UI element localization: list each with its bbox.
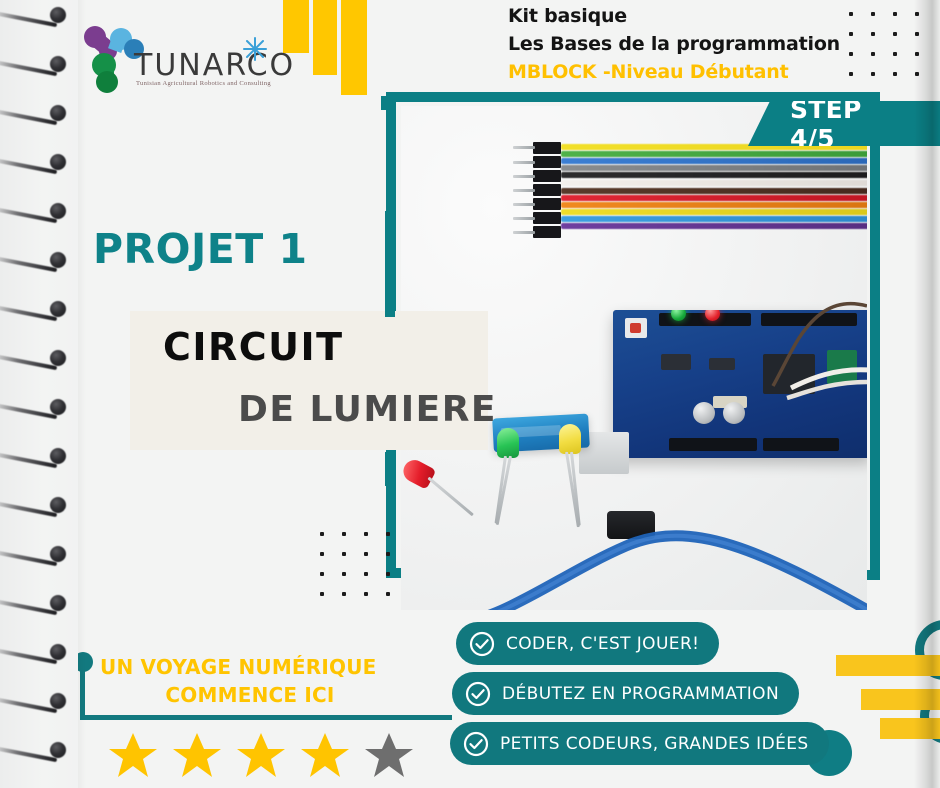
decor-yellow-bar-3 <box>341 0 367 95</box>
spiral-coil <box>0 155 66 164</box>
spiral-binding <box>0 0 78 788</box>
star-icon <box>172 731 222 779</box>
check-circle-icon <box>469 631 495 657</box>
jumper-wires-group <box>513 142 867 238</box>
decor-teal-square <box>381 96 395 110</box>
rating-stars <box>108 731 414 779</box>
step-badge-label: STEP 4/5 <box>790 95 910 153</box>
slogan-line-1: UN VOYAGE NUMÉRIQUE <box>100 655 377 679</box>
star-icon <box>108 731 158 779</box>
feature-pill-list: CODER, C'EST JOUER! DÉBUTEZ EN PROGRAMMA… <box>452 622 829 772</box>
white-wires <box>631 286 867 426</box>
check-circle-icon <box>465 681 491 707</box>
sparkle-icon <box>242 36 268 62</box>
spiral-coil <box>0 743 66 752</box>
green-led <box>497 428 519 458</box>
spiral-coil <box>0 302 66 311</box>
header-line-3: MBLOCK -Niveau Débutant <box>508 58 840 86</box>
slogan-bracket-horizontal <box>80 715 452 720</box>
decor-yellow-bar-5 <box>861 689 940 710</box>
feature-pill-label: CODER, C'EST JOUER! <box>506 634 699 654</box>
brand-logo[interactable]: TUNARCO Tunisian Agricultural Robotics a… <box>82 18 282 98</box>
feature-pill[interactable]: PETITS CODEURS, GRANDES IDÉES <box>450 722 829 765</box>
decor-dot-grid-top-right <box>849 12 937 92</box>
star-icon-empty <box>364 731 414 779</box>
decor-yellow-bar-2 <box>313 0 337 75</box>
page-title-main: CIRCUIT <box>163 325 344 369</box>
spiral-coil <box>0 8 66 17</box>
page-title-sub: DE LUMIERE <box>238 389 497 430</box>
spiral-coil <box>0 645 66 654</box>
decor-teal-tick-top <box>385 211 395 317</box>
feature-pill-label: DÉBUTEZ EN PROGRAMMATION <box>502 684 779 704</box>
feature-pill-label: PETITS CODEURS, GRANDES IDÉES <box>500 734 809 754</box>
decor-yellow-bar-1 <box>283 0 309 53</box>
slogan-line-2: COMMENCE ICI <box>100 681 400 709</box>
spiral-coil <box>0 400 66 409</box>
logo-wordmark: TUNARCO <box>134 48 295 83</box>
photo-frame-right <box>870 92 880 580</box>
decor-teal-tick-bottom <box>385 452 395 486</box>
photo-frame-top <box>386 92 880 102</box>
feature-pill[interactable]: DÉBUTEZ EN PROGRAMMATION <box>452 672 799 715</box>
check-circle-icon <box>463 731 489 757</box>
spiral-coil <box>0 106 66 115</box>
spiral-coil <box>0 694 66 703</box>
decor-yellow-bar-6 <box>880 718 940 739</box>
spiral-coil <box>0 253 66 262</box>
poster-canvas: STEP 4/5 Kit basique Les Bases de la pro… <box>0 0 940 788</box>
logo-tagline: Tunisian Agricultural Robotics and Consu… <box>136 80 271 87</box>
spiral-coil <box>0 351 66 360</box>
spiral-coil <box>0 547 66 556</box>
decor-yellow-bar-4 <box>836 655 940 676</box>
page-title-project: PROJET 1 <box>93 225 308 273</box>
header-line-1: Kit basique <box>508 2 840 30</box>
blue-usb-cable <box>441 504 867 610</box>
yellow-led <box>559 424 581 454</box>
spiral-coil <box>0 596 66 605</box>
spiral-coil <box>0 498 66 507</box>
header-text-block: Kit basique Les Bases de la programmatio… <box>508 2 840 86</box>
feature-pill[interactable]: CODER, C'EST JOUER! <box>456 622 719 665</box>
spiral-coil <box>0 57 66 66</box>
step-badge: STEP 4/5 <box>748 101 940 146</box>
slogan-text: UN VOYAGE NUMÉRIQUE COMMENCE ICI <box>100 653 400 709</box>
red-led <box>401 456 436 490</box>
spiral-coil <box>0 204 66 213</box>
star-icon <box>300 731 350 779</box>
star-icon <box>236 731 286 779</box>
header-line-2: Les Bases de la programmation <box>508 30 840 58</box>
spiral-coil <box>0 449 66 458</box>
decor-dot-grid-middle-left <box>320 532 408 612</box>
